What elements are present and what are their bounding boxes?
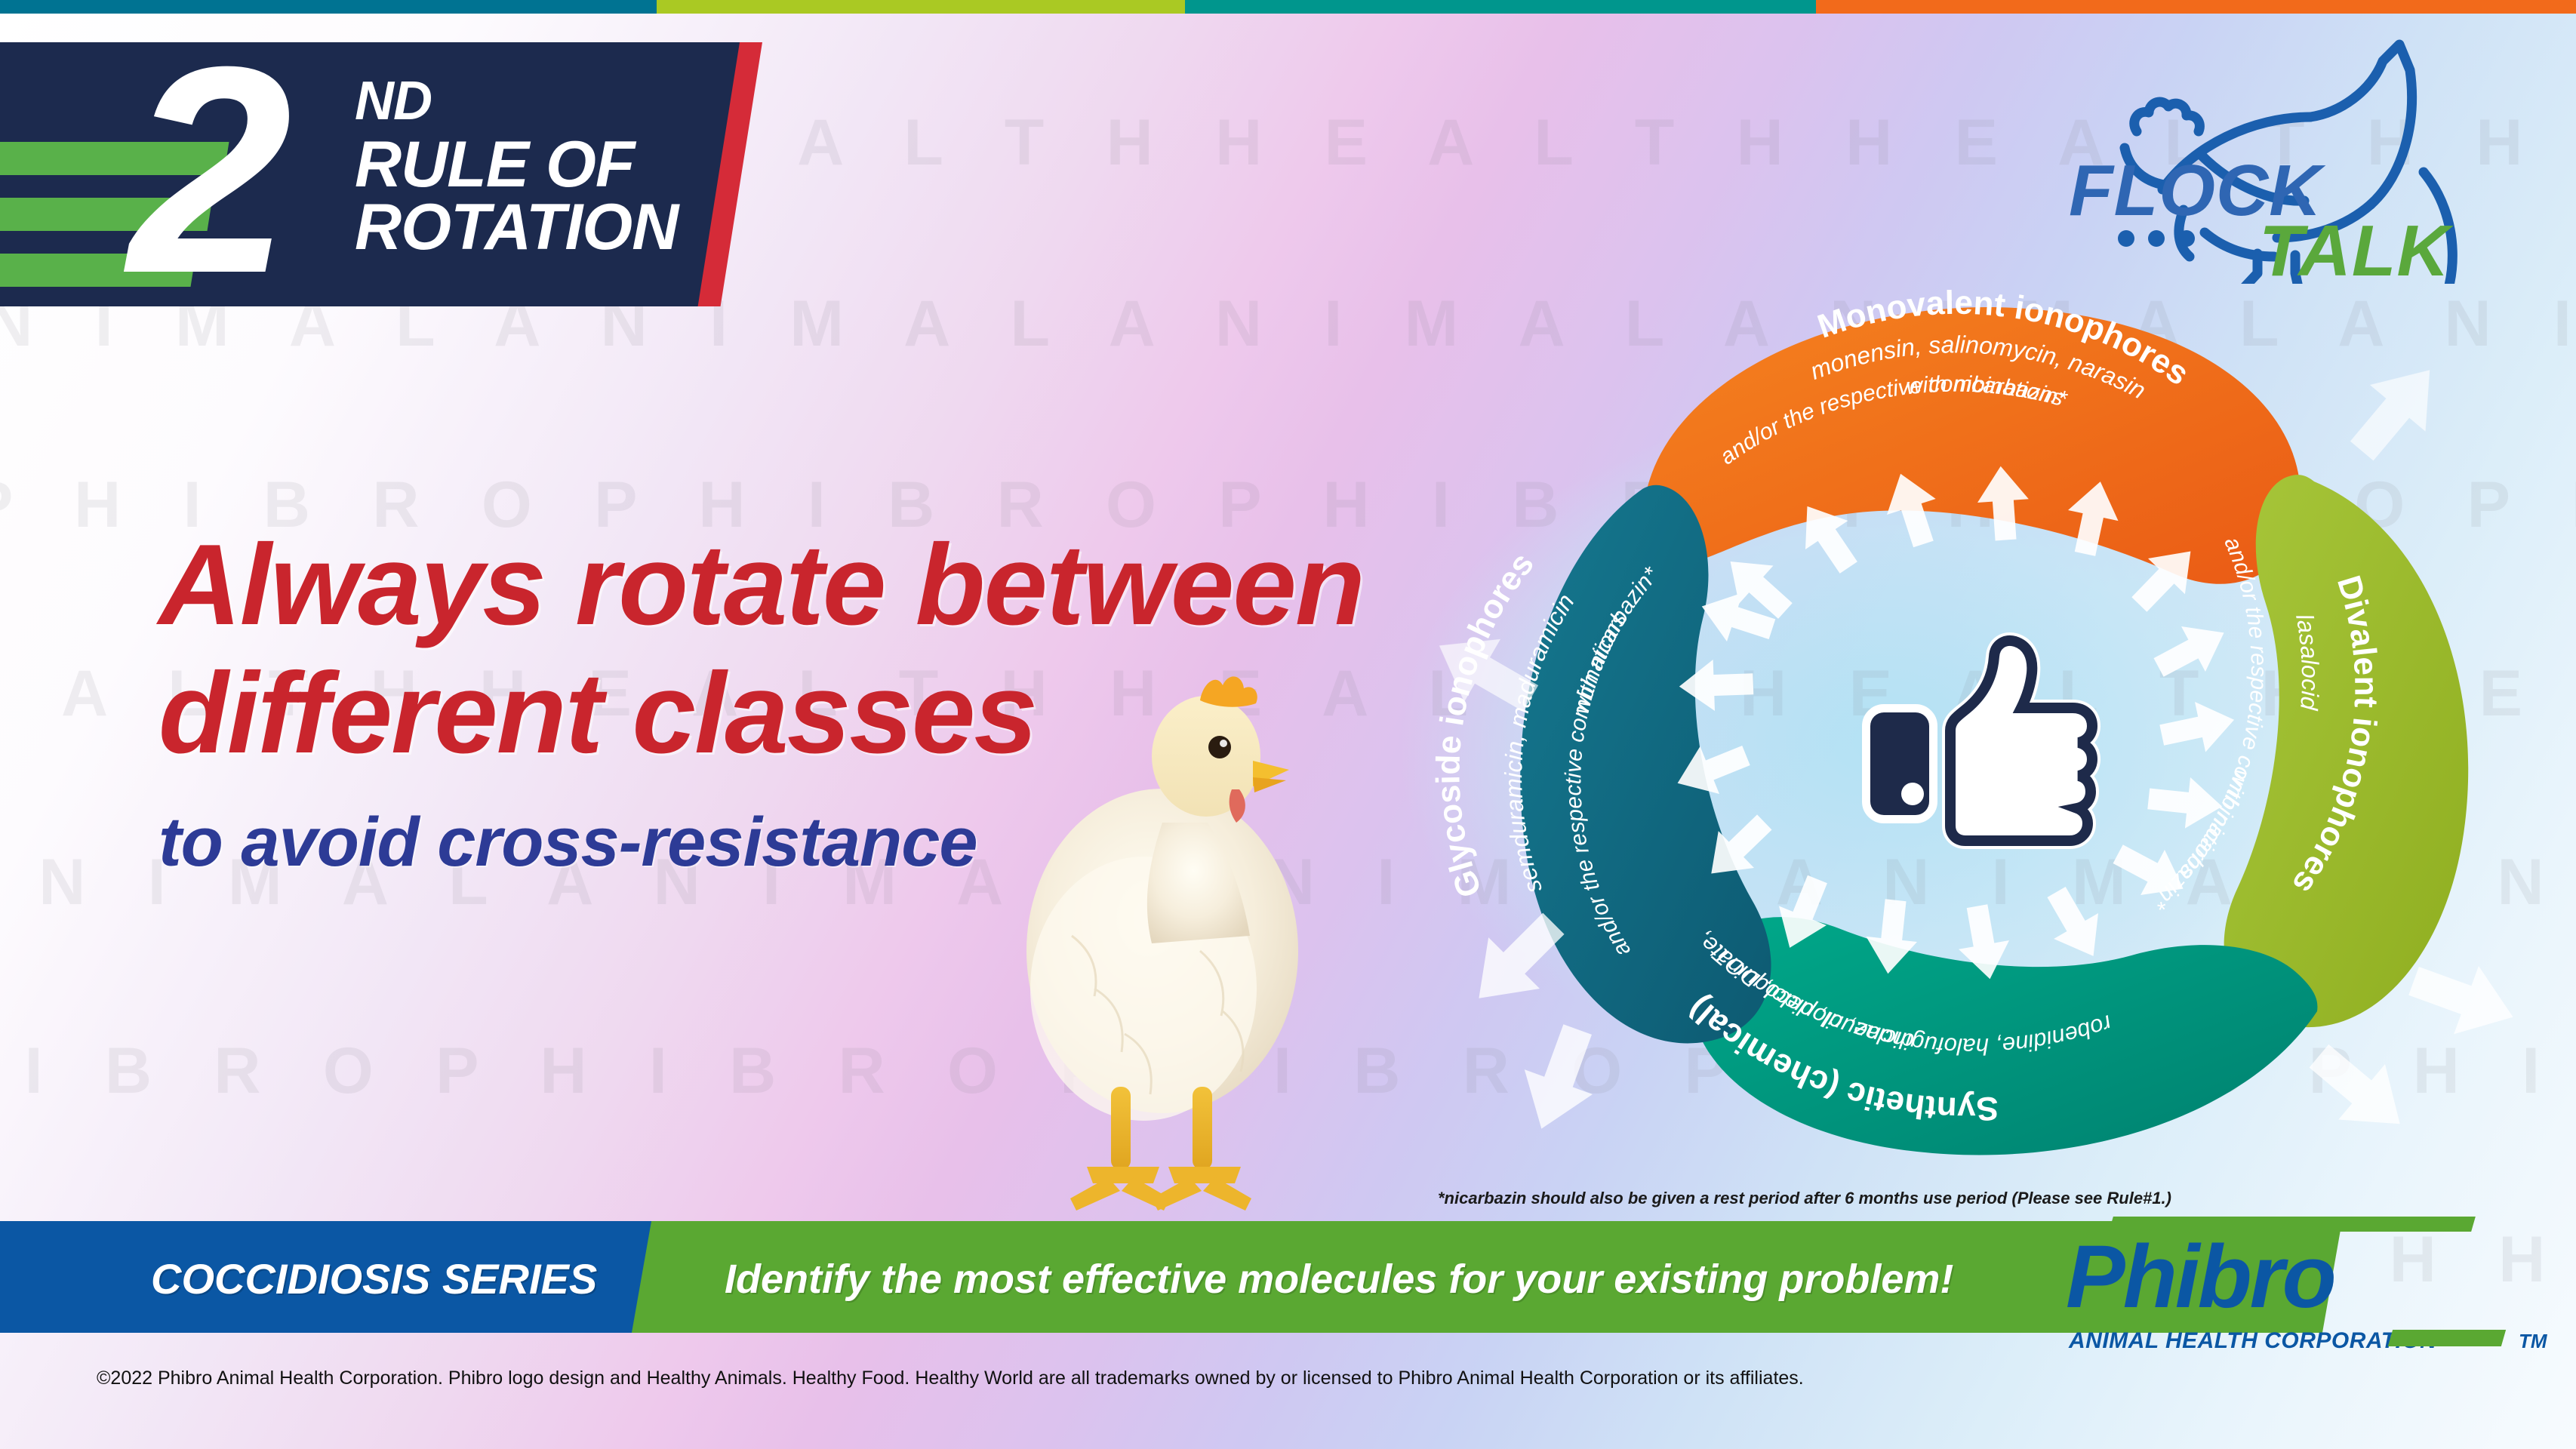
copyright-line: ©2022 Phibro Animal Health Corporation. … [97, 1367, 1804, 1389]
thumbs-up-icon [1870, 641, 2092, 841]
headline-line-1: Always rotate between [158, 521, 1364, 649]
phibro-subtitle: ANIMAL HEALTH CORPORATION [2069, 1328, 2436, 1354]
rule-badge: 2 ND RULE OF ROTATION [0, 42, 792, 306]
rule-number: 2 [128, 23, 282, 317]
series-label: COCCIDIOSIS SERIES [151, 1254, 597, 1303]
infographic-canvas: H E A L T H H E A L T H H E A L T H H E … [0, 0, 2576, 1449]
rule-line-2: ROTATION [355, 196, 678, 259]
topbar-segment-orange [1816, 0, 2576, 14]
phibro-trademark: TM [2519, 1330, 2547, 1353]
cycle-footnote: *nicarbazin should also be given a rest … [1438, 1189, 2171, 1208]
phibro-green-bar-bottom [2388, 1330, 2506, 1346]
logo-talk-text: TALK [2259, 210, 2450, 293]
bottom-tagline: Identify the most effective molecules fo… [725, 1256, 1953, 1303]
top-color-bar [0, 0, 2576, 14]
phibro-wordmark: Phibro [2066, 1226, 2334, 1328]
phibro-logo: Phibro ANIMAL HEALTH CORPORATION TM [2066, 1215, 2549, 1351]
rule-line-1: RULE OF [355, 134, 678, 196]
flock-talk-logo: FLOCK TALK [2072, 35, 2555, 284]
rule-ordinal: ND [355, 75, 678, 128]
chick-photo [974, 634, 1366, 1223]
rotation-cycle-diagram: Monovalent ionophores monensin, salinomy… [1419, 249, 2521, 1230]
topbar-segment-green-teal [1185, 0, 1816, 14]
topbar-segment-lime [657, 0, 1185, 14]
topbar-segment-teal [0, 0, 657, 14]
rule-badge-text: ND RULE OF ROTATION [355, 75, 678, 258]
